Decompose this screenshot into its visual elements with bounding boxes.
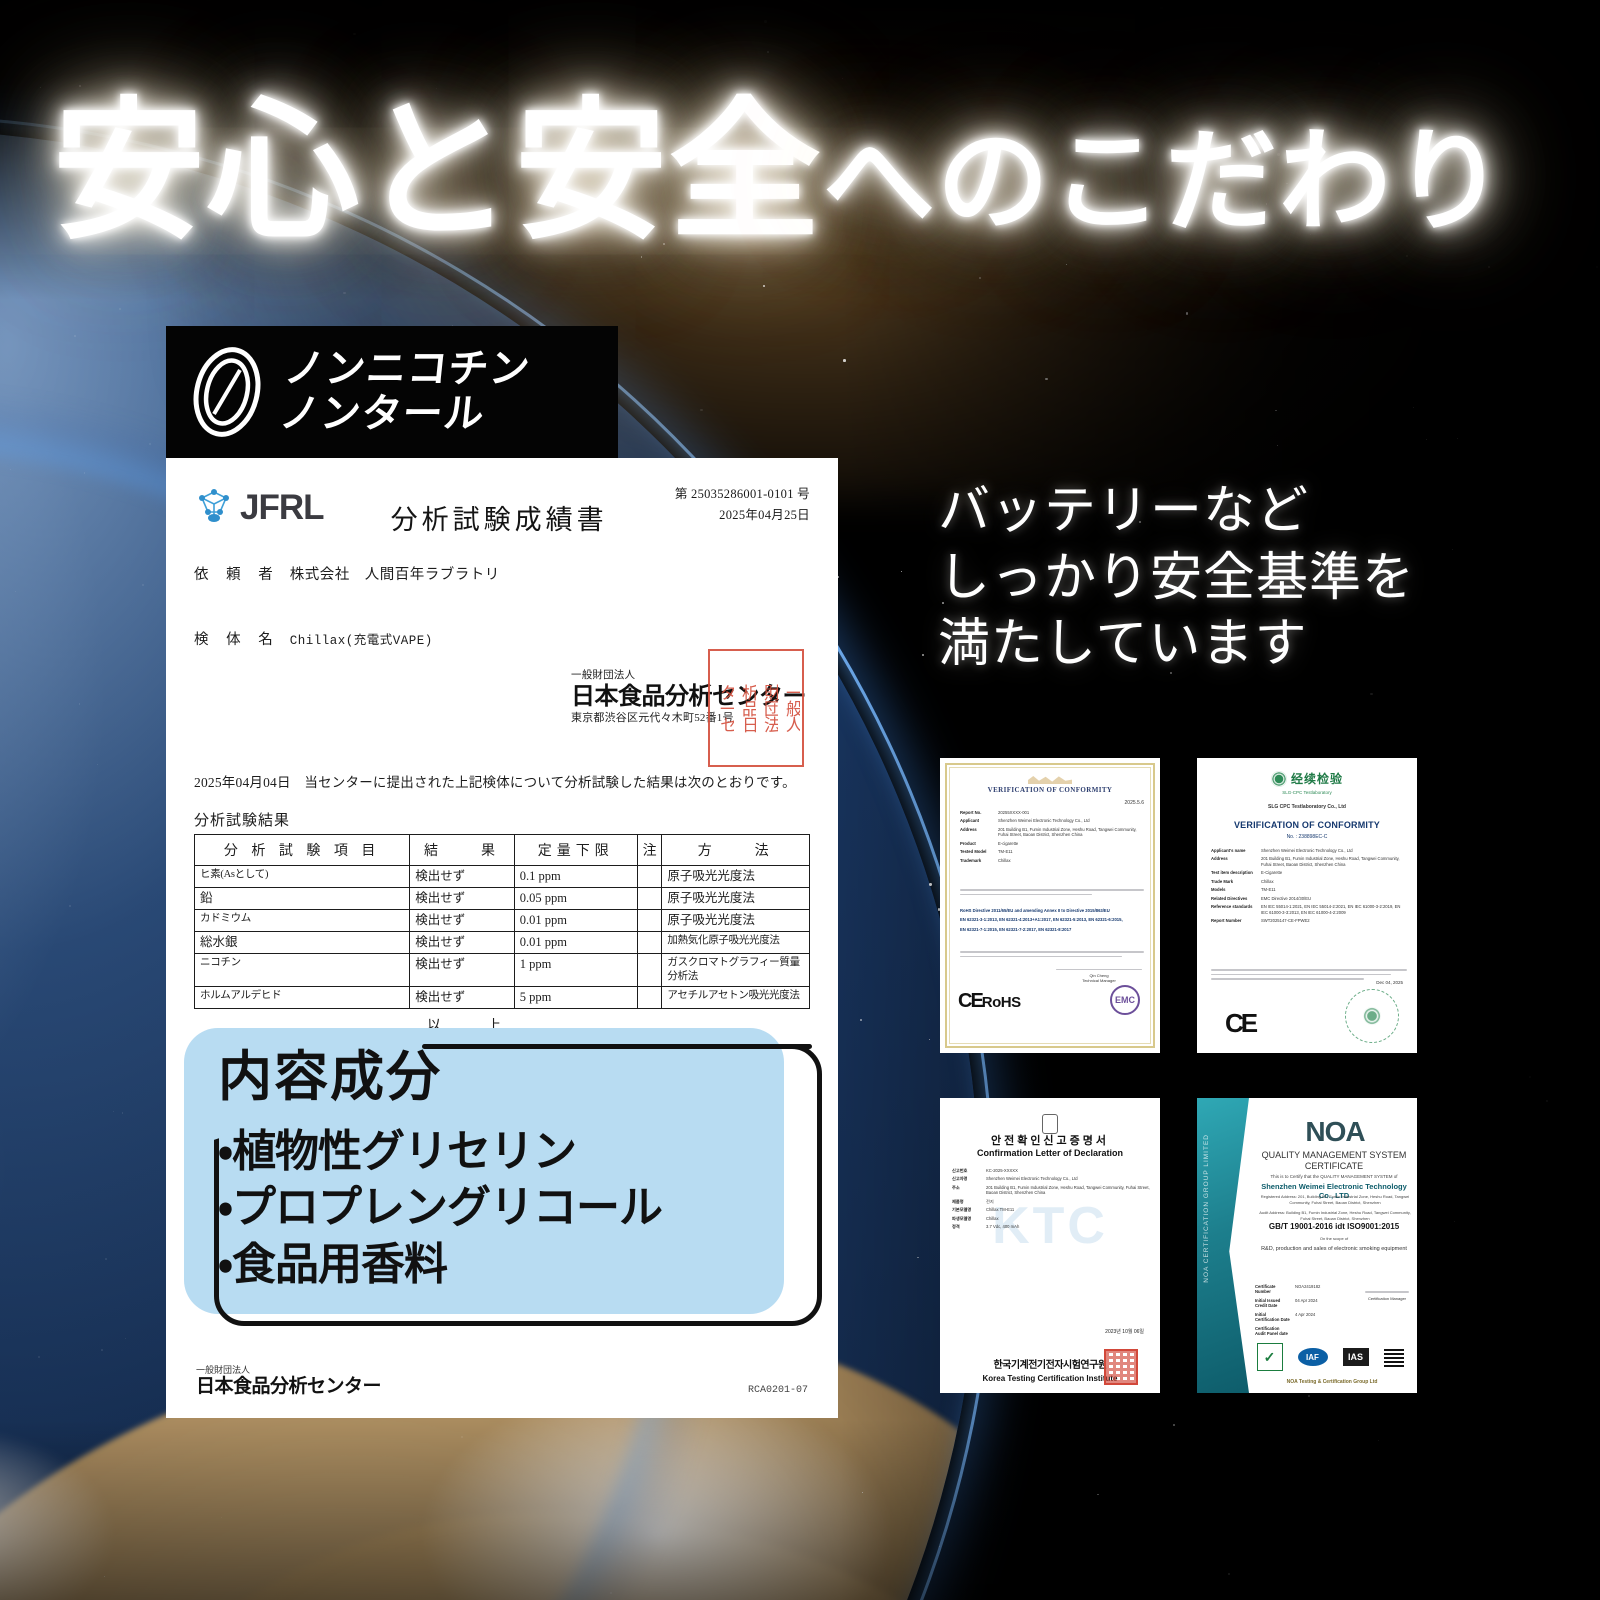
cell-note (637, 866, 662, 888)
cert2-round-seal (1345, 989, 1399, 1043)
cert-field-row: ProductE-cigarette (960, 841, 1144, 846)
cell-limit: 0.01 ppm (514, 909, 637, 931)
network-nodes-icon (194, 486, 234, 529)
table-row: 総水銀検出せず0.01 ppm加熱気化原子吸光光度法 (195, 931, 810, 953)
cert-field-value: Chillax TM-E11 (986, 1207, 1150, 1212)
cert-field-row: 기본모델명Chillax TM-E11 (952, 1207, 1150, 1212)
certificate-ce-rohs[interactable]: VERIFICATION OF CONFORMITY 2025.5.6 Repo… (940, 758, 1160, 1053)
cert-field-row: 정격3.7 Vdc, 400 mAh (952, 1224, 1150, 1229)
certificate-noa-iso9001[interactable]: NOA CERTIFICATION GROUP LIMITED NOA QUAL… (1197, 1098, 1417, 1393)
cert2-date: Dec 04, 2025 (1376, 980, 1403, 985)
sample-value: Chillax(充電式VAPE) (290, 634, 433, 648)
table-header-row: 分 析 試 験 項 目 結 果 定量下限 注 方 法 (195, 835, 810, 866)
cert-field-label: Report Number (1211, 918, 1257, 923)
table-row: ニコチン検出せず1 ppmガスクロマトグラフィー質量分析法 (195, 953, 810, 986)
cell-result: 検出せず (410, 887, 515, 909)
cell-method: 原子吸光光度法 (662, 909, 810, 931)
cert-field-label: Test item description (1211, 870, 1257, 875)
cert-field-label: 주소 (952, 1185, 982, 1190)
cert2-logo-cn: 经续检验 (1291, 770, 1343, 787)
emc-badge-icon: EMC (1110, 985, 1140, 1015)
results-title: 分析試験結果 (194, 809, 810, 830)
cert-field-row: Reference standardsEN IEC 55014-1:2021, … (1211, 904, 1407, 915)
jfrl-wordmark: JFRL (240, 488, 324, 528)
safety-copy-line-3: 満たしています (938, 611, 1558, 678)
ukas-mark-icon: ✓ (1257, 1343, 1283, 1371)
cert-field-value: 201 Building B1, Fumin Industrial Zone, … (1261, 856, 1407, 867)
cert4-audit-address: Audit Address: Building B1, Fumin Indust… (1257, 1210, 1413, 1221)
certificate-kr-declaration[interactable]: KTC 안전확인신고증명서 Confirmation Letter of Dec… (940, 1098, 1160, 1393)
cert3-title-kr: 안전확인신고증명서 (940, 1132, 1160, 1148)
cert-field-label: Report No. (960, 810, 994, 815)
cert-field-row: TrademarkChillax (960, 858, 1144, 863)
badge-text: ノンニコチン ノンタール (277, 347, 532, 437)
cert4-certify-text: This is to Certify that the QUALITY MANA… (1255, 1174, 1413, 1179)
document-intro: 2025年04月04日 当センターに提出された上記検体について分析試験した結果は… (194, 771, 810, 791)
seal-area: 一般財団法人 日本食品分析センター 東京都渋谷区元代々木町52番1号 タ一セ析品… (194, 657, 810, 769)
document-number-block: 第 25035286001-0101 号 2025年04月25日 (675, 484, 810, 525)
cert-field-label: Initial Certification Date (1255, 1312, 1291, 1323)
cert-field-value: Chillax (986, 1216, 1150, 1221)
cell-limit: 0.01 ppm (514, 931, 637, 953)
document-title: 分析試験成績書 (391, 498, 608, 537)
cell-method: アセチルアセトン吸光光度法 (662, 986, 810, 1008)
cert-field-value: 04 Apr 2024 (1295, 1298, 1357, 1303)
cert-field-value: E-Cigarette (1261, 870, 1407, 875)
cert-field-value: E-cigarette (998, 841, 1144, 846)
col-header-method: 方 法 (662, 835, 810, 866)
footer-org-name: 日本食品分析センター (196, 1377, 381, 1396)
cert-field-row: ApplicantShenzhen Weimei Electronic Tech… (960, 818, 1144, 823)
qr-code-icon (1384, 1347, 1404, 1367)
col-header-result: 結 果 (410, 835, 515, 866)
cert4-signer-title: Certification Manager (1365, 1296, 1409, 1301)
cert1-title: VERIFICATION OF CONFORMITY (940, 786, 1160, 794)
cell-result: 検出せず (410, 931, 515, 953)
ingredients-callout: 内容成分 ・植物性グリセリン・プロプレングリコール・食品用香料 (184, 1028, 814, 1328)
cert-field-value: Shenzhen Weimei Electronic Technology Co… (1261, 848, 1407, 853)
cell-limit: 1 ppm (514, 953, 637, 986)
rohs-mark: RoHS (982, 994, 1021, 1011)
cert2-number: No. : 238898EC-C (1197, 834, 1417, 840)
cert4-standard: GB/T 19001-2016 idt ISO9001:2015 (1255, 1222, 1413, 1231)
cert-field-row: Address201 Building B1, Fumin Industrial… (1211, 856, 1407, 867)
cert-field-row: Initial Certification Date4 Apr 2024 (1255, 1312, 1357, 1323)
cert2-logo: 经续检验 (1271, 770, 1343, 787)
cert3-date: 2023년 10월 06일 (1105, 1328, 1144, 1335)
iaf-mark-icon: IAF (1298, 1348, 1328, 1366)
cell-result: 検出せず (410, 909, 515, 931)
cert-field-row: 제품명전지 (952, 1199, 1150, 1204)
col-header-limit: 定量下限 (514, 835, 637, 866)
cell-result: 検出せず (410, 866, 515, 888)
cert-field-row: Trade MarkChillax (1211, 879, 1407, 884)
cert1-standard-line: EN 62321-7-1:2015, EN 62321-7-2:2017, EN… (960, 927, 1144, 932)
cell-result: 検出せず (410, 986, 515, 1008)
noa-logo: NOA (1259, 1116, 1411, 1148)
document-footer: 一般財団法人 日本食品分析センター RCA0201-07 (166, 1366, 838, 1396)
client-value: 株式会社 人間百年ラブラトリ (290, 567, 500, 583)
cert-field-row: 파생모델명Chillax (952, 1216, 1150, 1221)
cert2-company: SLG CPC Testlaboratory Co., Ltd (1197, 804, 1417, 810)
badge-line-2: ノンタール (277, 392, 487, 436)
document-date: 2025年04月25日 (675, 505, 810, 526)
sample-label: 検 体 名 (194, 632, 280, 648)
cert-field-value: TM-E11 (1261, 887, 1407, 892)
certificate-cn-conformity[interactable]: 经续检验 SLG-CPC Testlaboratory SLG CPC Test… (1197, 758, 1417, 1053)
cell-method: 原子吸光光度法 (662, 866, 810, 888)
footer-organization: 一般財団法人 日本食品分析センター (196, 1366, 381, 1396)
cell-note (637, 986, 662, 1008)
cert-field-row: ModelsTM-E11 (1211, 887, 1407, 892)
cert4-accreditation-marks: ✓ IAF IAS (1249, 1343, 1411, 1371)
ingredients-frame-top-line (422, 1044, 812, 1049)
footer-org-prefix: 一般財団法人 (196, 1366, 381, 1375)
cert-field-row: Initial Issued Credit Date04 Apr 2024 (1255, 1298, 1357, 1309)
cert-field-value: 전지 (986, 1199, 1150, 1204)
cert-field-label: 신고번호 (952, 1168, 982, 1173)
cert-field-row: 주소201 Building B1, Fumin Industrial Zone… (952, 1185, 1150, 1196)
document-header: JFRL 分析試験成績書 第 25035286001-0101 号 2025年0… (194, 484, 810, 537)
cert1-standard-line: EN 62321-3-1:2013, EN 62321-4:2013+A1:20… (960, 917, 1144, 922)
cert4-side-text: NOA CERTIFICATION GROUP LIMITED (1203, 1134, 1219, 1283)
cert-field-label: 제품명 (952, 1199, 982, 1204)
cert1-date: 2025.5.6 (1125, 800, 1144, 806)
ingredients-list: ・植物性グリセリン・プロプレングリコール・食品用香料 (218, 1124, 662, 1293)
badge-line-1: ノンニコチン (282, 347, 533, 391)
cert-field-label: 정격 (952, 1224, 982, 1229)
cert4-scope: R&D, production and sales of electronic … (1255, 1246, 1413, 1252)
cell-note (637, 909, 662, 931)
cert-field-value: 201 Building B1, Fumin Industrial Zone, … (986, 1185, 1150, 1196)
cert-field-label: Related Directives (1211, 896, 1257, 901)
cert-field-value: 3.7 Vdc, 400 mAh (986, 1224, 1150, 1229)
cert-field-label: Address (960, 827, 994, 832)
col-header-note: 注 (637, 835, 662, 866)
cert-field-value: KC-2025-XXXXX (986, 1168, 1150, 1173)
cert-field-row: Tested ModelTM-E11 (960, 849, 1144, 854)
cert-field-value: Chillax (1261, 879, 1407, 884)
safety-copy-line-1: バッテリーなど (938, 478, 1558, 545)
ingredient-item: ・プロプレングリコール (218, 1180, 662, 1236)
cert-field-value: 20255XXXX-001 (998, 810, 1144, 815)
cert2-fields: Applicant's nameShenzhen Weimei Electron… (1211, 848, 1407, 927)
non-nicotine-badge: ノンニコチン ノンタール (166, 326, 618, 458)
cell-result: 検出せず (410, 953, 515, 986)
cell-item: 総水銀 (195, 931, 410, 953)
cert1-body (960, 886, 1144, 898)
ias-mark-icon: IAS (1343, 1348, 1369, 1366)
table-row: 鉛検出せず0.05 ppm原子吸光光度法 (195, 887, 810, 909)
cert-field-row: 신고자명Shenzhen Weimei Electronic Technolog… (952, 1176, 1150, 1181)
cert-field-row: Applicant's nameShenzhen Weimei Electron… (1211, 848, 1407, 853)
cert1-ce-rohs-mark: CERoHS (958, 990, 1021, 1013)
cert-field-value: 201 Building B1, Fumin Industrial Zone, … (998, 827, 1144, 838)
cert4-signature: Certification Manager (1365, 1288, 1409, 1301)
cell-method: 加熱気化原子吸光光度法 (662, 931, 810, 953)
cert4-title: QUALITY MANAGEMENT SYSTEM CERTIFICATE (1255, 1150, 1413, 1173)
cell-limit: 5 ppm (514, 986, 637, 1008)
cell-item: カドミウム (195, 909, 410, 931)
vignette-bottom (0, 1420, 1600, 1600)
cert1-standards: RoHS Directive 2011/65/EU and amending A… (960, 908, 1144, 936)
cert-field-label: Models (1211, 887, 1257, 892)
korea-crest-icon (1042, 1114, 1058, 1134)
jfrl-logo: JFRL (194, 486, 324, 529)
cert-field-value: EN IEC 55014-1:2021, EN IEC 55014-2:2021… (1261, 904, 1407, 915)
headline-part-1: 安心と安全 (53, 87, 823, 257)
cert-field-row: Report No.20255XXXX-001 (960, 810, 1144, 815)
safety-copy: バッテリーなど しっかり安全基準を 満たしています (938, 478, 1558, 678)
cert-field-label: Trade Mark (1211, 879, 1257, 884)
cert-field-value: Shenzhen Weimei Electronic Technology Co… (986, 1176, 1150, 1181)
cert-field-label: Reference standards (1211, 904, 1257, 909)
document-number: 第 25035286001-0101 号 (675, 484, 810, 505)
cell-note (637, 931, 662, 953)
col-header-item: 分 析 試 験 項 目 (195, 835, 410, 866)
cert-field-label: Trademark (960, 858, 994, 863)
cert3-fields: 신고번호KC-2025-XXXXX신고자명Shenzhen Weimei Ele… (952, 1168, 1150, 1233)
table-body: ヒ素(Asとして)検出せず0.1 ppm原子吸光光度法鉛検出せず0.05 ppm… (195, 866, 810, 1009)
cell-note (637, 887, 662, 909)
client-field: 依 頼 者株式会社 人間百年ラブラトリ (194, 563, 810, 584)
cert-field-value: EMC Directive 2014/30/EU (1261, 896, 1407, 901)
cert-field-label: Product (960, 841, 994, 846)
safety-copy-line-2: しっかり安全基準を (938, 545, 1558, 612)
cert-field-label: 신고자명 (952, 1176, 982, 1181)
cert2-logo-sub: SLG-CPC Testlaboratory (1197, 790, 1417, 795)
cert1-standard-line: RoHS Directive 2011/65/EU and amending A… (960, 908, 1144, 913)
cert4-fields: Certificate NumberNOA2419182Initial Issu… (1255, 1284, 1357, 1340)
cert1-signer-title: Technical Manager (1056, 978, 1142, 983)
cert1-fields: Report No.20255XXXX-001ApplicantShenzhen… (960, 810, 1144, 866)
cert-field-value: 4 Apr 2024 (1295, 1312, 1357, 1317)
cert-field-value: SWT2025147-CE-FPWE2 (1261, 918, 1407, 923)
cert-field-row: Test item descriptionE-Cigarette (1211, 870, 1407, 875)
cell-limit: 0.1 ppm (514, 866, 637, 888)
sample-field: 検 体 名Chillax(充電式VAPE) (194, 628, 810, 649)
cell-limit: 0.05 ppm (514, 887, 637, 909)
cert3-title-en: Confirmation Letter of Declaration (940, 1148, 1160, 1158)
analysis-results-table: 分 析 試 験 項 目 結 果 定量下限 注 方 法 ヒ素(Asとして)検出せず… (194, 834, 810, 1009)
cell-method: 原子吸光光度法 (662, 887, 810, 909)
cert4-footer: NOA Testing & Certification Group Ltd (1253, 1379, 1411, 1385)
cert-field-label: Address (1211, 856, 1257, 861)
headline-part-2: へのこだわり (823, 119, 1507, 244)
cert-field-label: Certification Audit Panel date (1255, 1326, 1291, 1337)
cert4-title-line-1: QUALITY MANAGEMENT SYSTEM (1262, 1150, 1407, 1160)
cert-field-label: 파생모델명 (952, 1216, 982, 1221)
cert-field-label: Applicant's name (1211, 848, 1257, 853)
cert-field-row: 신고번호KC-2025-XXXXX (952, 1168, 1150, 1173)
red-seal-stamp: タ一セ析品日財団法一般人 (708, 649, 804, 767)
ce-mark: CE (958, 990, 982, 1012)
client-label: 依 頼 者 (194, 567, 280, 583)
ingredients-title: 内容成分 (218, 1032, 442, 1111)
cert-field-value: TM-E11 (998, 849, 1144, 854)
cert-field-value: Chillax (998, 858, 1144, 863)
cert-field-row: Certification Audit Panel date (1255, 1326, 1357, 1337)
table-row: ホルムアルデヒド検出せず5 ppmアセチルアセトン吸光光度法 (195, 986, 810, 1008)
cert-field-label: Initial Issued Credit Date (1255, 1298, 1291, 1309)
cert-field-label: 기본모델명 (952, 1207, 982, 1212)
cert-field-row: Report NumberSWT2025147-CE-FPWE2 (1211, 918, 1407, 923)
page-title: 安心と安全へのこだわり (0, 96, 1560, 248)
cell-item: ホルムアルデヒド (195, 986, 410, 1008)
table-row: ヒ素(Asとして)検出せず0.1 ppm原子吸光光度法 (195, 866, 810, 888)
ingredient-item: ・植物性グリセリン (218, 1124, 662, 1180)
cert3-red-seal (1104, 1349, 1138, 1385)
cert2-title: VERIFICATION OF CONFORMITY (1197, 820, 1417, 830)
cert-field-row: Certificate NumberNOA2419182 (1255, 1284, 1357, 1295)
cert-field-row: Related DirectivesEMC Directive 2014/30/… (1211, 896, 1407, 901)
cert2-ce-mark: CE (1225, 1008, 1255, 1039)
cert1-signature-area: Qin Cheng Technical Manager (1056, 966, 1142, 984)
table-row: カドミウム検出せず0.01 ppm原子吸光光度法 (195, 909, 810, 931)
cert-field-label: Tested Model (960, 849, 994, 854)
slg-cpc-icon (1271, 771, 1287, 787)
cert-field-label: Applicant (960, 818, 994, 823)
cert-field-value: Shenzhen Weimei Electronic Technology Co… (998, 818, 1144, 823)
cert4-title-line-2: CERTIFICATE (1305, 1161, 1363, 1171)
zero-oval-icon (188, 344, 266, 440)
cert1-footnote (960, 948, 1144, 960)
cert-field-row: Address201 Building B1, Fumin Industrial… (960, 827, 1144, 838)
cell-item: 鉛 (195, 887, 410, 909)
cert-field-label: Certificate Number (1255, 1284, 1291, 1295)
cert4-scope-label: On the scope of (1255, 1236, 1413, 1241)
cell-item: ニコチン (195, 953, 410, 986)
cert4-registered-address: Registered Address: 201, Building B1, Fu… (1257, 1194, 1413, 1205)
document-header-left: JFRL (194, 484, 324, 529)
ingredient-item: ・食品用香料 (218, 1237, 662, 1293)
footer-code: RCA0201-07 (748, 1385, 808, 1396)
cell-note (637, 953, 662, 986)
cert-field-value: NOA2419182 (1295, 1284, 1357, 1289)
cell-method: ガスクロマトグラフィー質量分析法 (662, 953, 810, 986)
cell-item: ヒ素(Asとして) (195, 866, 410, 888)
